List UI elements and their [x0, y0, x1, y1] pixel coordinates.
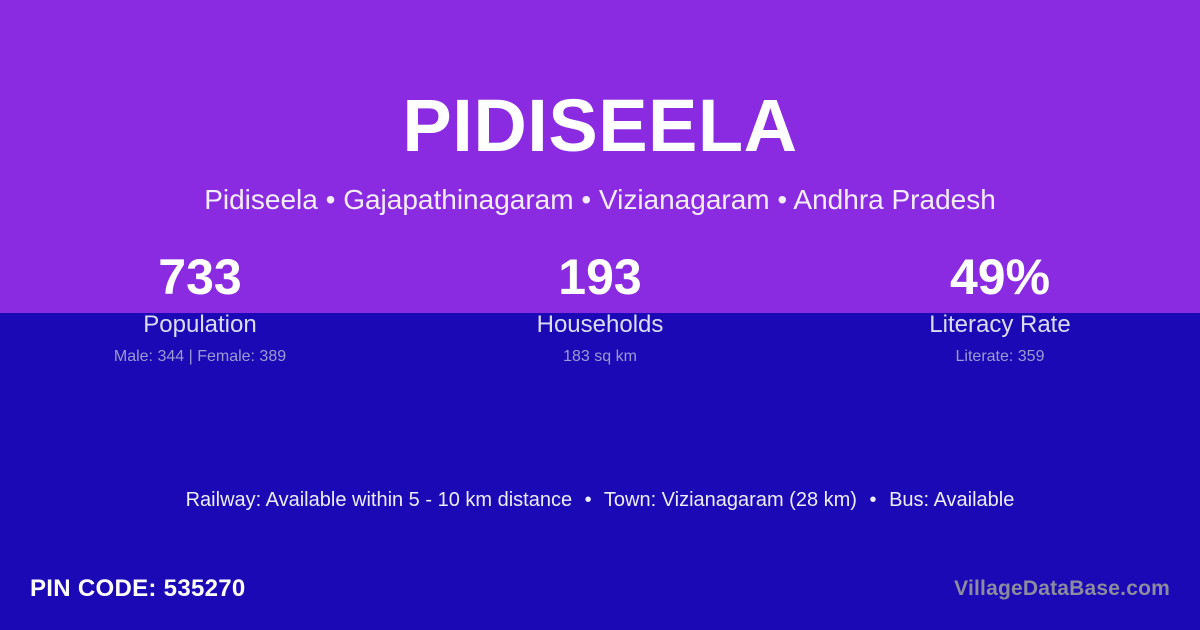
facility-separator-1: • [578, 489, 599, 511]
facility-separator-2: • [863, 489, 884, 511]
village-info-card: PIDISEELA Pidiseela • Gajapathinagaram •… [0, 0, 1200, 630]
stat-label-households: Households [400, 310, 800, 340]
stat-households: 193 Households 183 sq km [400, 248, 800, 367]
stat-literacy-rate: 49% Literacy Rate Literate: 359 [800, 248, 1200, 367]
stat-sub-literacy-rate: Literate: 359 [800, 347, 1200, 367]
breadcrumb: Pidiseela • Gajapathinagaram • Vizianaga… [0, 182, 1200, 218]
site-watermark: VillageDataBase.com [954, 575, 1170, 603]
stat-label-population: Population [0, 310, 400, 340]
facility-railway: Railway: Available within 5 - 10 km dist… [186, 489, 572, 511]
stat-sub-population: Male: 344 | Female: 389 [0, 347, 400, 367]
pin-code: PIN CODE: 535270 [30, 574, 246, 604]
stat-label-literacy-rate: Literacy Rate [800, 310, 1200, 340]
facilities-line: Railway: Available within 5 - 10 km dist… [0, 486, 1200, 514]
stats-row: 733 Population Male: 344 | Female: 389 1… [0, 248, 1200, 367]
facility-town: Town: Vizianagaram (28 km) [604, 489, 857, 511]
stat-value-literacy-rate: 49% [800, 248, 1200, 306]
stat-population: 733 Population Male: 344 | Female: 389 [0, 248, 400, 367]
stat-value-households: 193 [400, 248, 800, 306]
page-title: PIDISEELA [0, 83, 1200, 169]
facility-bus: Bus: Available [889, 489, 1014, 511]
stat-sub-households: 183 sq km [400, 347, 800, 367]
footer: PIN CODE: 535270 VillageDataBase.com [0, 558, 1200, 630]
stat-value-population: 733 [0, 248, 400, 306]
